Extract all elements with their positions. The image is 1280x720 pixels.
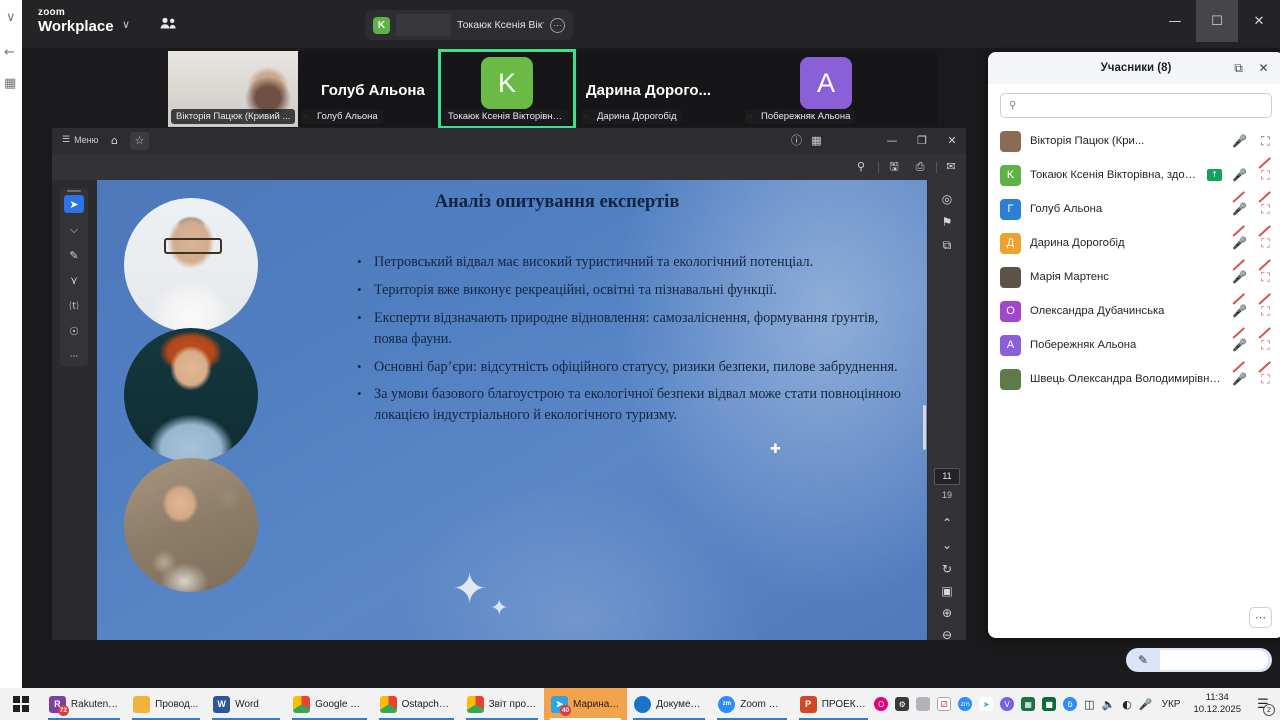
stamp-tool-icon[interactable]: ☉ xyxy=(64,322,84,340)
taskbar-label: Звіт про ... xyxy=(489,699,537,710)
page-total-label: 19 xyxy=(934,490,960,500)
slide-title: Аналіз опитування експертів xyxy=(247,192,867,213)
pdf-minimize-button[interactable]: — xyxy=(877,128,907,154)
participant-row[interactable]: K Токаюк Ксенія Вікторівна, здобув... ↑ … xyxy=(988,158,1280,192)
divider xyxy=(878,162,879,173)
apps-grid-icon[interactable]: ▦ xyxy=(807,132,826,150)
microphone-icon[interactable]: 🎤 xyxy=(1139,698,1153,711)
participants-list: Вікторія Пацюк (Кри... 🎤 ⛶ K Токаюк Ксен… xyxy=(988,122,1280,398)
search-input[interactable] xyxy=(1022,100,1263,112)
pdf-restore-button[interactable]: ❐ xyxy=(907,128,937,154)
zoom-meeting-window: zoom Workplace ∨ K Токаюк Ксенія Вікторі… xyxy=(22,0,1280,688)
pdf-menu-label: Меню xyxy=(74,135,98,145)
print-icon[interactable]: ⎙ xyxy=(911,159,929,175)
taskbar-label: Zoom W... xyxy=(740,699,785,710)
avatar xyxy=(1000,267,1021,288)
notes-tray-icon[interactable]: ■ xyxy=(1042,697,1056,711)
powerpoint-icon: P xyxy=(800,696,817,713)
participant-row[interactable]: Марія Мартенс 🎤 ⛶ xyxy=(988,260,1280,294)
avatar xyxy=(1000,369,1021,390)
participants-title: Учасники (8) xyxy=(1101,62,1172,74)
popout-icon[interactable]: ⧉ xyxy=(1231,61,1246,76)
taskbar-item-powerpoint[interactable]: P ПРОЕКТ_ xyxy=(793,688,874,720)
taskbar-item-chrome-2[interactable]: Ostapchu... xyxy=(373,688,460,720)
taskbar-item-explorer[interactable]: Провод... xyxy=(126,688,206,720)
bluetooth-icon[interactable]: ɓ xyxy=(1063,697,1077,711)
camera-off-icon[interactable]: ⛶ xyxy=(1257,168,1274,183)
page-number-input[interactable]: 11 xyxy=(934,468,960,485)
zoom-tray-icon[interactable]: zm xyxy=(958,697,972,711)
participant-name: Швець Олександра Володимирівна, з... xyxy=(1030,373,1222,385)
search-icon[interactable]: ⚲ xyxy=(852,159,870,175)
camera-off-icon[interactable]: ⛶ xyxy=(1257,236,1274,251)
hamburger-icon: ☰ xyxy=(62,134,70,145)
video-tile-strip: Вікторія Пацюк (Кривий ... Голуб Альона … xyxy=(130,48,990,130)
avatar: Г xyxy=(1000,199,1021,220)
participant-row[interactable]: Д Дарина Дорогобід 🎤 ⛶ xyxy=(988,226,1280,260)
bookmark-icon[interactable]: ⚑ xyxy=(938,213,956,231)
grid-icon[interactable]: ▦ xyxy=(4,76,16,91)
mic-off-icon[interactable]: 🎤 xyxy=(1231,270,1248,284)
zoom-out-icon[interactable]: ⊖ xyxy=(938,626,956,644)
participant-row[interactable]: A Побережняк Альона 🎤 ⛶ xyxy=(988,328,1280,362)
chrome-icon xyxy=(380,696,397,713)
chat-compose-pill[interactable]: ✎ xyxy=(1126,648,1272,672)
avatar: K xyxy=(373,17,390,34)
tile-name-label: Дарина Дорогобід xyxy=(581,109,682,124)
star-icon[interactable]: ☆ xyxy=(130,132,149,150)
settings-icon[interactable]: ⚙ xyxy=(895,697,909,711)
redacted-block xyxy=(396,14,451,36)
taskbar-item-zoom[interactable]: zm Zoom W... xyxy=(711,688,792,720)
screen-share-badge: ↑ xyxy=(1207,169,1222,181)
participant-row[interactable]: Швець Олександра Володимирівна, з... 🎤 ⛶ xyxy=(988,362,1280,396)
expert-photo-2 xyxy=(124,328,258,462)
chat-input[interactable] xyxy=(1160,650,1268,670)
badge-count: 40 xyxy=(560,705,571,716)
participant-name: Вікторія Пацюк (Кри... xyxy=(1030,135,1222,147)
shared-pdf-window: ☰ Меню ⌂ ☆ ⓘ ▦ — ❐ ✕ ⚲ 🖫 ⎙ ✉ xyxy=(52,128,966,640)
word-icon: W xyxy=(213,696,230,713)
home-icon[interactable]: ⌂ xyxy=(105,132,124,150)
camera-off-icon[interactable]: ⛶ xyxy=(1257,270,1274,285)
pan-icon[interactable]: ◎ xyxy=(938,190,956,208)
zoom-in-icon[interactable]: ⊕ xyxy=(938,604,956,622)
taskbar-label: Rakuten ... xyxy=(71,699,119,710)
rotate-icon[interactable]: ↻ xyxy=(938,560,956,578)
slide-bullet: Територія вже виконує рекреаційні, освіт… xyxy=(352,280,912,301)
divider xyxy=(936,162,937,173)
avatar: A xyxy=(800,57,852,109)
viber-icon[interactable]: V xyxy=(1000,697,1014,711)
next-page-icon[interactable]: ⌄ xyxy=(938,536,956,554)
taskbar-item-chrome-1[interactable]: Google C... xyxy=(286,688,372,720)
mic-on-icon[interactable]: 🎤 xyxy=(1231,168,1248,182)
edge-icon xyxy=(634,696,651,713)
active-speaker-name: Токаюк Ксенія Вікторівн xyxy=(457,19,544,31)
zoom-icon: zm xyxy=(718,696,735,713)
help-icon[interactable]: ⓘ xyxy=(787,132,806,150)
pdf-menu-button[interactable]: ☰ Меню xyxy=(62,134,98,145)
mic-on-icon[interactable]: 🎤 xyxy=(1231,134,1248,148)
taskbar-label: Докумен... xyxy=(656,699,704,710)
zoom-titlebar: zoom Workplace ∨ K Токаюк Ксенія Вікторі… xyxy=(22,0,1280,48)
avatar: A xyxy=(1000,335,1021,356)
highlight-tool-icon[interactable]: ✎ xyxy=(64,246,84,264)
participant-name: Дарина Дорогобід xyxy=(1030,237,1222,249)
close-button[interactable]: ✕ xyxy=(1238,0,1280,42)
security-shield-icon[interactable]: ⚂ xyxy=(937,697,951,711)
mic-off-icon[interactable]: 🎤 xyxy=(1231,372,1248,386)
taskbar-item-chrome-3[interactable]: Звіт про ... xyxy=(460,688,544,720)
copy-page-icon[interactable]: ⧉ xyxy=(938,236,956,254)
avatar xyxy=(1000,131,1021,152)
badge-count: 72 xyxy=(58,705,69,716)
mail-icon[interactable]: ✉ xyxy=(942,159,960,175)
window-controls: — ☐ ✕ xyxy=(1154,0,1280,42)
telegram-tray-icon[interactable]: ➤ xyxy=(979,697,993,711)
slide-bullet: За умови базового благоустрою та екологі… xyxy=(352,384,912,426)
save-icon[interactable]: 🖫 xyxy=(885,159,903,175)
participant-row[interactable]: О Олександра Дубачинська 🎤 ⛶ xyxy=(988,294,1280,328)
avatar: О xyxy=(1000,301,1021,322)
folder-icon xyxy=(133,696,150,713)
participant-name: Марія Мартенс xyxy=(1030,271,1222,283)
sparkle-small-icon: ✦ xyxy=(490,598,508,620)
telegram-icon: ➤40 xyxy=(551,696,568,713)
tile-name-label: Голуб Альона xyxy=(301,109,383,124)
zoom-brand-top: zoom xyxy=(38,8,114,19)
camera-on-icon[interactable]: ⛶ xyxy=(1257,134,1274,149)
rakuten-icon: R72 xyxy=(49,696,66,713)
chrome-icon xyxy=(467,696,484,713)
pdf-titlebar: ☰ Меню ⌂ ☆ ⓘ ▦ — ❐ ✕ xyxy=(52,128,966,154)
opera-icon[interactable]: O xyxy=(874,697,888,711)
more-tools-icon[interactable]: ··· xyxy=(64,348,84,366)
clock-time: 11:34 xyxy=(1193,692,1241,704)
taskbar-label: Провод... xyxy=(155,699,198,710)
active-speaker-pill[interactable]: K Токаюк Ксенія Вікторівн ⋯ xyxy=(365,10,573,40)
pdf-body: ➤ ⌵ ✎ ⋎ ⒯ ☉ ··· Аналіз опитування експер… xyxy=(52,180,966,640)
participant-name: Токаюк Ксенія Вікторівна, здобув... xyxy=(1030,169,1198,181)
mic-off-icon[interactable]: 🎤 xyxy=(1231,236,1248,250)
clock-date: 10.12.2025 xyxy=(1193,704,1241,716)
chevron-down-icon[interactable]: ∨ xyxy=(6,10,16,25)
windows-taskbar: R72 Rakuten ... Провод... W Word Google … xyxy=(0,688,1280,720)
taskbar-item-edge[interactable]: Докумен... xyxy=(627,688,711,720)
more-options-icon[interactable]: ⋯ xyxy=(550,18,565,33)
battery-icon[interactable]: ◫ xyxy=(1084,698,1094,711)
sparkle-large-icon: ✦ xyxy=(452,568,487,610)
participants-more-button[interactable]: ⋯ xyxy=(1249,607,1272,628)
participants-search[interactable]: ⚲ xyxy=(1000,93,1272,118)
tile-name-label: Вікторія Пацюк (Кривий ... xyxy=(171,109,295,124)
taskbar-item-rakuten[interactable]: R72 Rakuten ... xyxy=(42,688,126,720)
mic-off-icon[interactable]: 🎤 xyxy=(1231,338,1248,352)
folder-icon[interactable] xyxy=(916,697,930,711)
participants-toggle-icon[interactable] xyxy=(154,14,182,34)
back-arrow-icon[interactable]: ← xyxy=(4,45,15,60)
drag-handle[interactable] xyxy=(67,190,81,192)
participant-name: Побережняк Альона xyxy=(1030,339,1222,351)
video-tile-active-speaker[interactable]: K Токаюк Ксенія Вікторівна... xyxy=(440,51,574,127)
tile-name-label: Токаюк Ксенія Вікторівна... xyxy=(443,109,569,124)
notification-count: 2 xyxy=(1263,704,1275,716)
pdf-scrollbar-thumb[interactable] xyxy=(923,405,926,450)
excel-tray-icon[interactable]: ▦ xyxy=(1021,697,1035,711)
video-tile[interactable]: A ⏿ Побережняк Альона xyxy=(742,51,937,127)
camera-off-icon[interactable]: ⛶ xyxy=(1257,304,1274,319)
slide-bullet: Петровський відвал має високий туристичн… xyxy=(352,252,912,273)
participants-panel: Учасники (8) ⧉ ✕ ⚲ Вікторія Пацюк (Кри..… xyxy=(988,52,1280,638)
taskbar-item-telegram[interactable]: ➤40 Марина ... xyxy=(544,688,627,720)
zoom-logo: zoom Workplace xyxy=(38,8,114,34)
presentation-slide[interactable]: Аналіз опитування експертів Петровський … xyxy=(97,180,927,640)
lasso-tool-icon[interactable]: ⋎ xyxy=(64,271,84,289)
wifi-icon[interactable]: ◐ xyxy=(1122,698,1132,711)
slide-bullet: Основні бар’єри: відсутність офіційного … xyxy=(352,357,912,378)
comment-tool-icon[interactable]: ⌵ xyxy=(64,220,84,238)
start-button[interactable] xyxy=(0,688,42,720)
camera-off-icon[interactable]: ⛶ xyxy=(1257,338,1274,353)
tile-name-label: Побережняк Альона xyxy=(745,109,855,124)
mic-off-icon[interactable]: 🎤 xyxy=(1231,202,1248,216)
participant-name: Олександра Дубачинська xyxy=(1030,305,1222,317)
select-tool-icon[interactable]: ➤ xyxy=(64,195,84,213)
avatar: Д xyxy=(1000,233,1021,254)
camera-off-icon[interactable]: ⛶ xyxy=(1257,202,1274,217)
taskbar-label: Google C... xyxy=(315,699,365,710)
chrome-icon xyxy=(293,696,310,713)
tile-big-name: Голуб Альона xyxy=(321,82,425,99)
taskbar-label: Марина ... xyxy=(573,699,620,710)
participant-row[interactable]: Вікторія Пацюк (Кри... 🎤 ⛶ xyxy=(988,124,1280,158)
clock[interactable]: 11:34 10.12.2025 xyxy=(1189,692,1245,716)
tile-big-name: Дарина Дорого... xyxy=(586,82,711,99)
chevron-down-icon[interactable]: ∨ xyxy=(118,17,134,33)
pdf-toolbar: ⚲ 🖫 ⎙ ✉ xyxy=(52,154,966,180)
participants-header: Учасники (8) ⧉ ✕ xyxy=(988,52,1280,84)
avatar: K xyxy=(481,57,533,109)
camera-off-icon[interactable]: ⛶ xyxy=(1257,372,1274,387)
mic-off-icon[interactable]: 🎤 xyxy=(1231,304,1248,318)
participant-name: Голуб Альона xyxy=(1030,203,1222,215)
taskbar-label: Ostapchu... xyxy=(402,699,453,710)
notification-center-button[interactable]: ☰ 2 xyxy=(1252,693,1274,715)
annotation-cursor-icon: ✚ xyxy=(770,442,781,457)
taskbar-label: Word xyxy=(235,699,259,710)
volume-icon[interactable]: 🔈 xyxy=(1102,698,1116,711)
taskbar-label: ПРОЕКТ_ xyxy=(822,699,867,710)
language-indicator[interactable]: УКР xyxy=(1160,699,1183,710)
pencil-icon: ✎ xyxy=(1126,653,1160,667)
minimize-button[interactable]: — xyxy=(1154,0,1196,42)
participant-row[interactable]: Г Голуб Альона 🎤 ⛶ xyxy=(988,192,1280,226)
zoom-brand-bottom: Workplace xyxy=(38,19,114,35)
expert-photo-3 xyxy=(124,458,258,592)
text-tool-icon[interactable]: ⒯ xyxy=(64,297,84,315)
expert-photo-1 xyxy=(124,198,258,332)
system-tray: O ⚙ ⚂ zm ➤ V ▦ ■ ɓ ◫ 🔈 ◐ 🎤 УКР 11:34 10.… xyxy=(874,692,1280,716)
search-icon: ⚲ xyxy=(1009,100,1016,111)
pdf-right-toolbar: ◎ ⚑ ⧉ 11 19 ⌃ ⌄ ↻ ▣ ⊕ ⊖ xyxy=(928,180,966,640)
previous-page-icon[interactable]: ⌃ xyxy=(938,514,956,532)
annotation-toolbar: ➤ ⌵ ✎ ⋎ ⒯ ☉ ··· xyxy=(60,188,88,366)
slide-bullet: Експерти відзначають природне відновленн… xyxy=(352,308,912,350)
slide-bullet-list: Петровський відвал має високий туристичн… xyxy=(352,252,912,433)
windows-logo-icon xyxy=(13,696,29,712)
taskbar-item-word[interactable]: W Word xyxy=(206,688,286,720)
fit-page-icon[interactable]: ▣ xyxy=(938,582,956,600)
pdf-close-button[interactable]: ✕ xyxy=(937,128,967,154)
maximize-button[interactable]: ☐ xyxy=(1196,0,1238,42)
close-icon[interactable]: ✕ xyxy=(1256,61,1271,76)
avatar: K xyxy=(1000,165,1021,186)
